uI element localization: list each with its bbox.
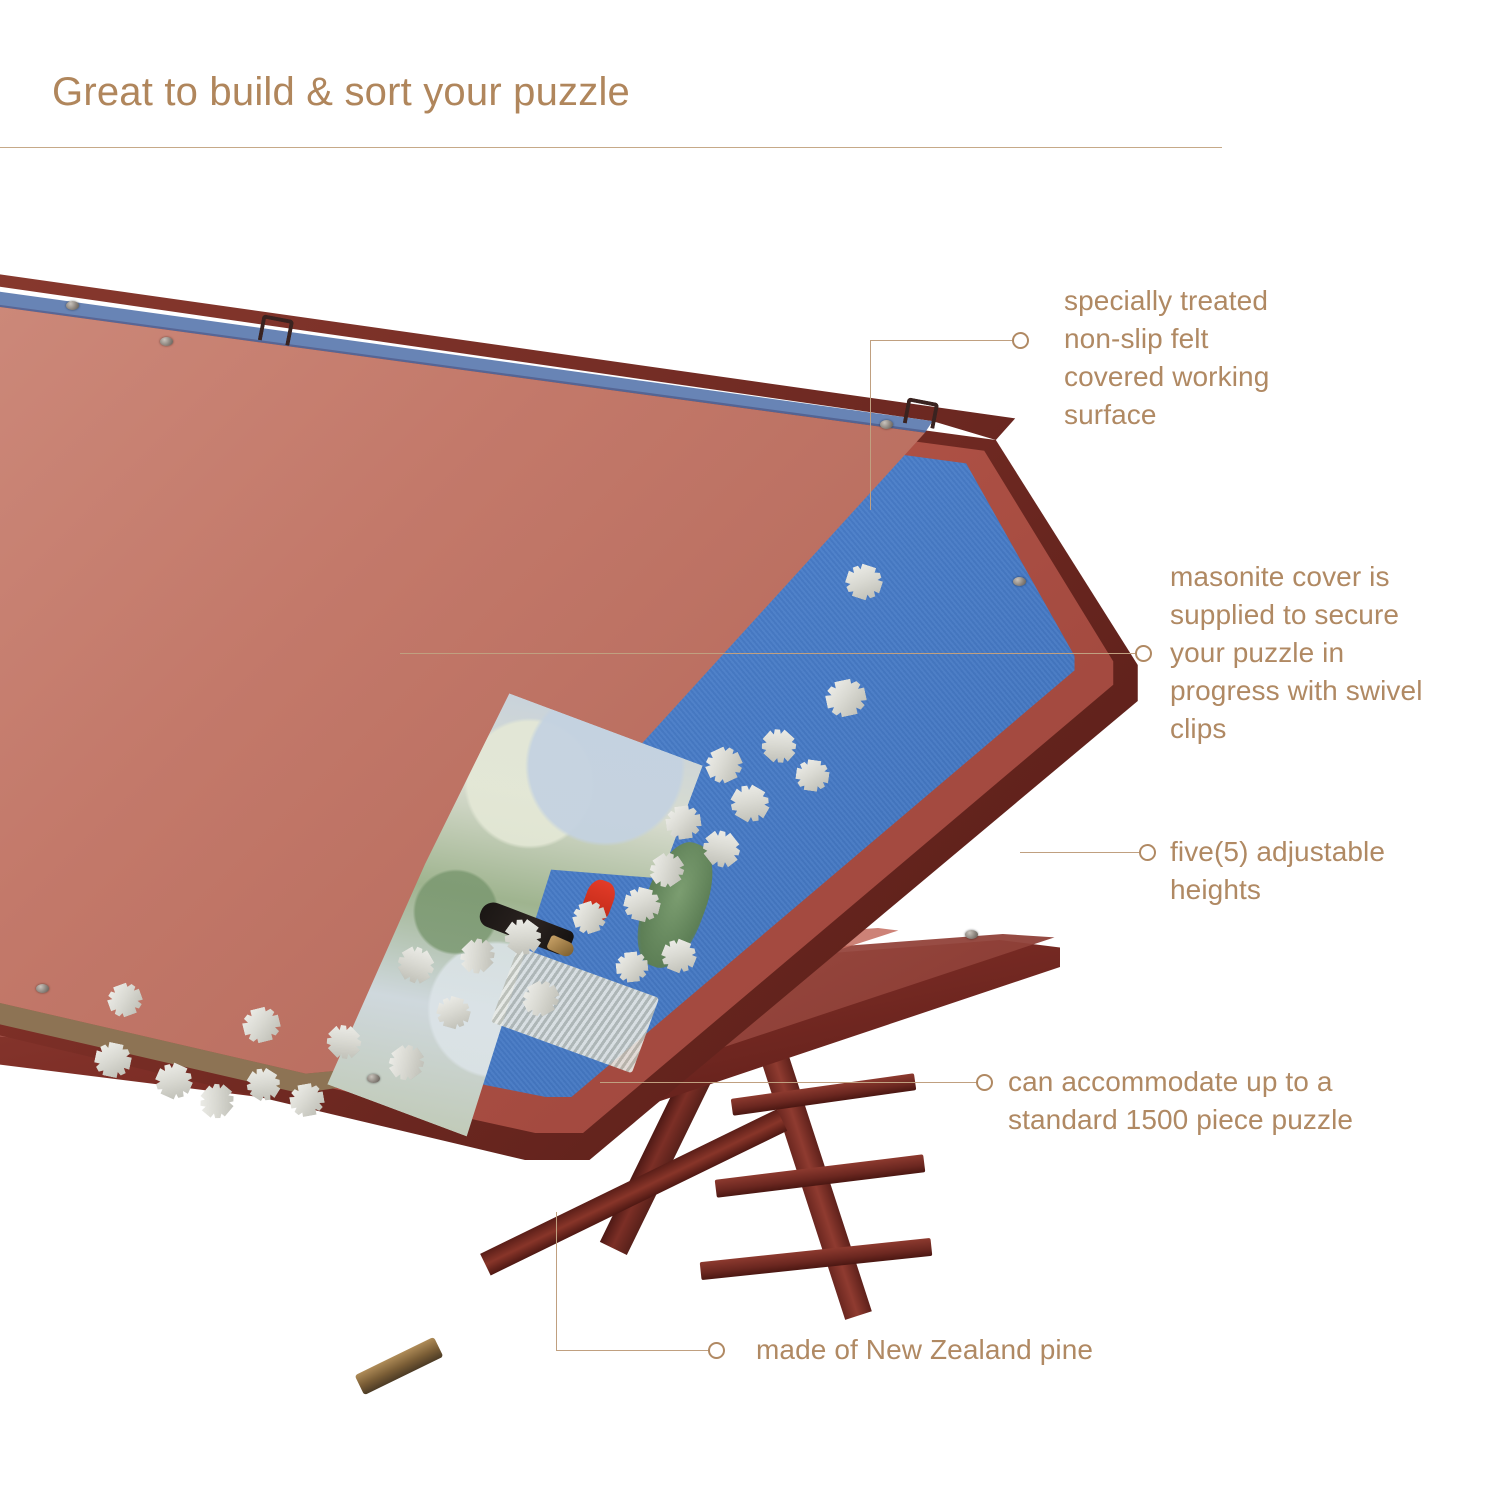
leader-line-material-horizontal bbox=[556, 1350, 711, 1351]
callout-masonite-cover: masonite cover is supplied to secure you… bbox=[1170, 558, 1423, 748]
screw-bottom bbox=[367, 1074, 380, 1083]
callout-line: can accommodate up to a bbox=[1008, 1063, 1353, 1101]
page-title: Great to build & sort your puzzle bbox=[52, 70, 630, 115]
header-divider bbox=[0, 147, 1222, 148]
brass-hinge bbox=[355, 1337, 444, 1395]
leader-line-adjustable-heights bbox=[1020, 852, 1140, 853]
leader-dot-material bbox=[708, 1342, 725, 1359]
callout-line: supplied to secure bbox=[1170, 596, 1423, 634]
screw-right-upper bbox=[1013, 577, 1026, 586]
leader-line-puzzle-capacity bbox=[600, 1082, 978, 1083]
callout-line: five(5) adjustable bbox=[1170, 833, 1385, 871]
leader-line-felt-surface-horizontal bbox=[870, 340, 1015, 341]
callout-line: heights bbox=[1170, 871, 1385, 909]
callout-line: covered working bbox=[1064, 358, 1269, 396]
leader-dot-felt-surface bbox=[1012, 332, 1029, 349]
callout-felt-surface: specially treated non-slip felt covered … bbox=[1064, 282, 1269, 434]
easel-rung-3 bbox=[700, 1238, 933, 1280]
leader-line-felt-surface-vertical bbox=[870, 340, 871, 510]
leader-dot-puzzle-capacity bbox=[976, 1074, 993, 1091]
callout-line: specially treated bbox=[1064, 282, 1269, 320]
leader-dot-masonite-cover bbox=[1135, 645, 1152, 662]
screw-right-lower bbox=[965, 930, 978, 939]
screw-upper-left bbox=[66, 301, 79, 310]
screw-left-lower bbox=[36, 984, 49, 993]
callout-line: progress with swivel bbox=[1170, 672, 1423, 710]
callout-adjustable-heights: five(5) adjustable heights bbox=[1170, 833, 1385, 909]
screw-top-left bbox=[160, 337, 173, 346]
callout-line: masonite cover is bbox=[1170, 558, 1423, 596]
leader-line-material-vertical bbox=[556, 1212, 557, 1351]
callout-line: made of New Zealand pine bbox=[756, 1331, 1093, 1369]
callout-line: standard 1500 piece puzzle bbox=[1008, 1101, 1353, 1139]
screw-top-right bbox=[880, 420, 893, 429]
callout-material: made of New Zealand pine bbox=[756, 1331, 1093, 1369]
callout-line: your puzzle in bbox=[1170, 634, 1423, 672]
callout-line: non-slip felt bbox=[1064, 320, 1269, 358]
leader-dot-adjustable-heights bbox=[1139, 844, 1156, 861]
product-photo bbox=[0, 240, 1160, 1260]
leader-line-masonite-cover bbox=[400, 653, 1140, 654]
callout-puzzle-capacity: can accommodate up to a standard 1500 pi… bbox=[1008, 1063, 1353, 1139]
callout-line: clips bbox=[1170, 710, 1423, 748]
callout-line: surface bbox=[1064, 396, 1269, 434]
